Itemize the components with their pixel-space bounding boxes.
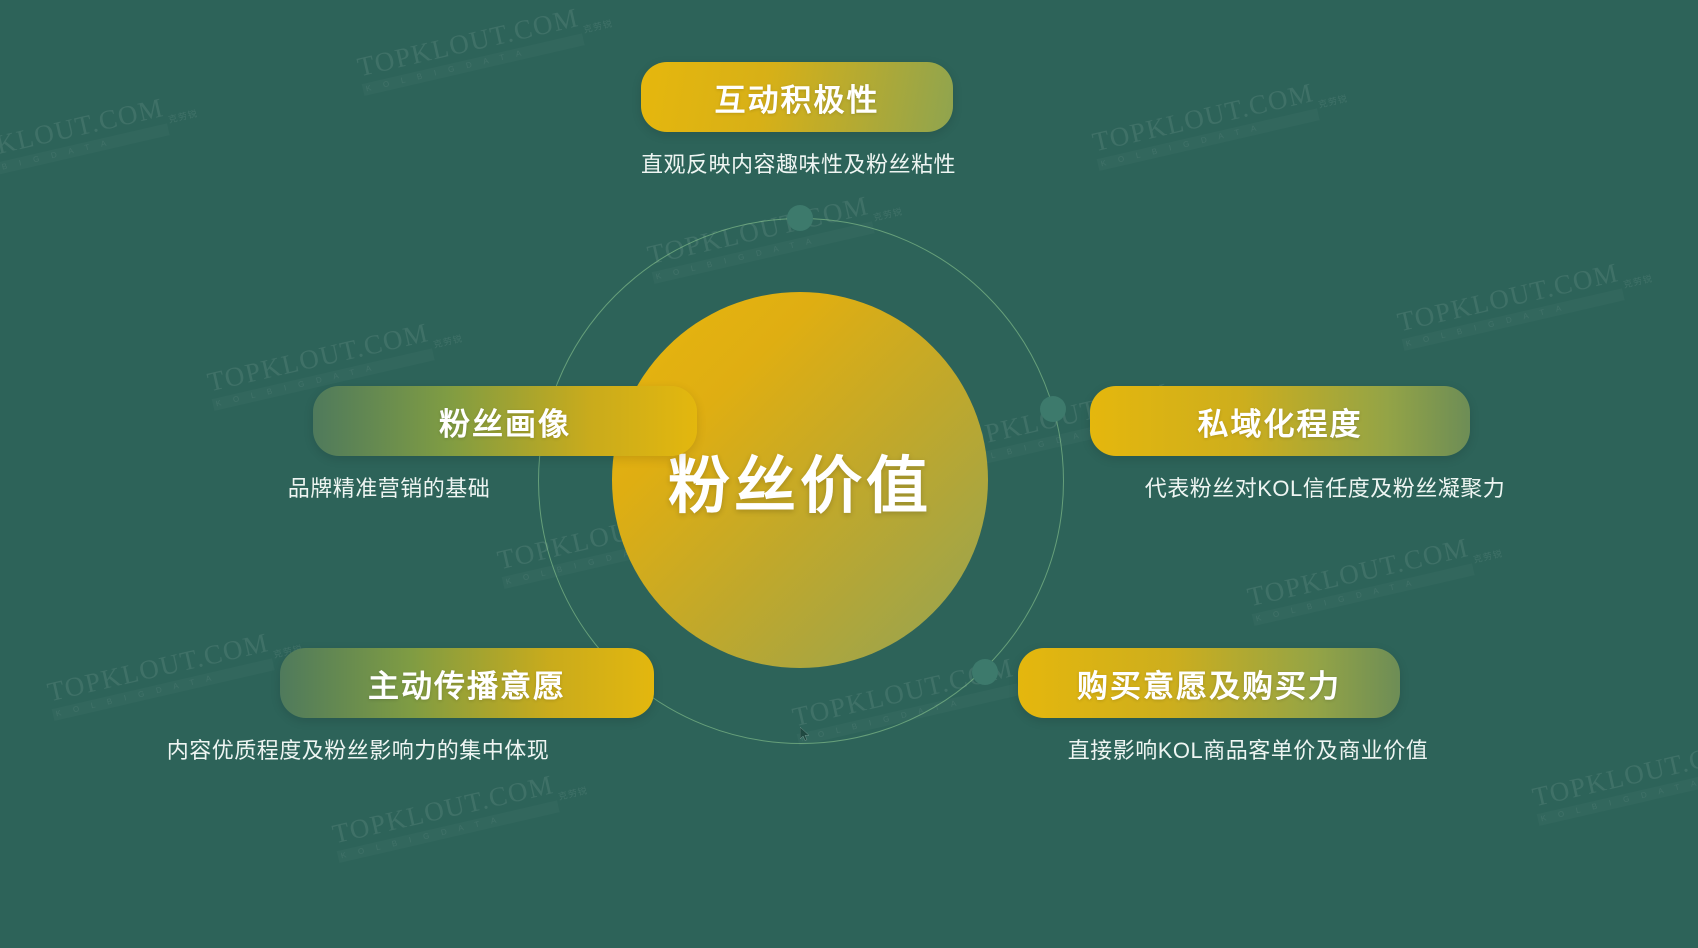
watermark-tile: TOPKLOUT.COM K O L B I G D A T A 克劳锐: [0, 94, 170, 185]
infographic-canvas: TOPKLOUT.COM K O L B I G D A T A 克劳锐 TOP…: [0, 0, 1698, 948]
node-spread-willingness[interactable]: 主动传播意愿 内容优质程度及粉丝影响力的集中体现: [130, 648, 586, 765]
watermark-brand: 克劳锐: [432, 331, 464, 350]
watermark-subtext: K O L B I G D A T A: [337, 800, 560, 862]
watermark-text: TOPKLOUT.COM: [1395, 259, 1622, 336]
node-spread-willingness-caption: 内容优质程度及粉丝影响力的集中体现: [130, 733, 586, 765]
node-purchase-power-caption: 直接影响KOL商品客单价及商业价值: [1018, 733, 1478, 765]
node-fan-profile-pill[interactable]: 粉丝画像: [313, 386, 697, 456]
node-fan-profile-title: 粉丝画像: [439, 399, 571, 444]
node-private-domain[interactable]: 私域化程度 代表粉丝对KOL信任度及粉丝凝聚力: [1090, 386, 1560, 503]
center-label: 粉丝价值: [668, 435, 932, 525]
watermark-text: TOPKLOUT.COM: [205, 319, 432, 396]
watermark-tile: TOPKLOUT.COM K O L B I G D A T A 克劳锐: [1245, 534, 1475, 625]
watermark-tile: TOPKLOUT.COM K O L B I G D A T A 克劳锐: [355, 4, 585, 95]
mouse-cursor-icon: [800, 727, 810, 741]
watermark-brand: 克劳锐: [1472, 546, 1504, 565]
watermark-subtext: K O L B I G D A T A: [1537, 763, 1698, 825]
orbit-dot-bottom-right: [972, 659, 998, 685]
center-circle[interactable]: 粉丝价值: [612, 292, 988, 668]
watermark-text: TOPKLOUT.COM: [0, 94, 167, 171]
node-fan-profile-caption: 品牌精准营销的基础: [149, 471, 629, 503]
node-fan-profile[interactable]: 粉丝画像 品牌精准营销的基础: [149, 386, 629, 503]
node-interaction[interactable]: 互动积极性 直观反映内容趣味性及粉丝粘性: [641, 62, 953, 179]
watermark-subtext: K O L B I G D A T A: [0, 123, 170, 185]
node-spread-willingness-title: 主动传播意愿: [368, 661, 566, 706]
watermark-subtext: K O L B I G D A T A: [362, 33, 585, 95]
node-spread-willingness-pill[interactable]: 主动传播意愿: [280, 648, 654, 718]
node-private-domain-caption: 代表粉丝对KOL信任度及粉丝凝聚力: [1090, 471, 1560, 503]
watermark-text: TOPKLOUT.COM: [355, 4, 582, 81]
watermark-brand: 克劳锐: [557, 783, 589, 802]
watermark-subtext: K O L B I G D A T A: [1097, 108, 1320, 170]
watermark-brand: 克劳锐: [167, 106, 199, 125]
watermark-text: TOPKLOUT.COM: [1245, 534, 1472, 611]
watermark-text: TOPKLOUT.COM: [1090, 79, 1317, 156]
node-purchase-power-title: 购买意愿及购买力: [1077, 661, 1341, 706]
watermark-subtext: K O L B I G D A T A: [1402, 288, 1625, 350]
orbit-dot-right: [1040, 396, 1066, 422]
node-private-domain-title: 私域化程度: [1198, 399, 1363, 444]
watermark-tile: TOPKLOUT.COM K O L B I G D A T A 克劳锐: [330, 771, 560, 862]
orbit-dot-top: [787, 205, 813, 231]
watermark-text: TOPKLOUT.COM: [1530, 734, 1698, 811]
watermark-text: TOPKLOUT.COM: [330, 771, 557, 848]
node-purchase-power[interactable]: 购买意愿及购买力 直接影响KOL商品客单价及商业价值: [1018, 648, 1478, 765]
watermark-brand: 克劳锐: [872, 204, 904, 223]
watermark-brand: 克劳锐: [582, 16, 614, 35]
node-purchase-power-pill[interactable]: 购买意愿及购买力: [1018, 648, 1400, 718]
node-private-domain-pill[interactable]: 私域化程度: [1090, 386, 1470, 456]
watermark-tile: TOPKLOUT.COM K O L B I G D A T A 克劳锐: [1395, 259, 1625, 350]
watermark-brand: 克劳锐: [1317, 91, 1349, 110]
watermark-subtext: K O L B I G D A T A: [1252, 563, 1475, 625]
node-interaction-caption: 直观反映内容趣味性及粉丝粘性: [641, 147, 953, 179]
watermark-brand: 克劳锐: [1622, 271, 1654, 290]
node-interaction-pill[interactable]: 互动积极性: [641, 62, 953, 132]
watermark-tile: TOPKLOUT.COM K O L B I G D A T A 克劳锐: [1090, 79, 1320, 170]
node-interaction-title: 互动积极性: [715, 75, 880, 120]
watermark-tile: TOPKLOUT.COM K O L B I G D A T A 克劳锐: [1530, 734, 1698, 825]
